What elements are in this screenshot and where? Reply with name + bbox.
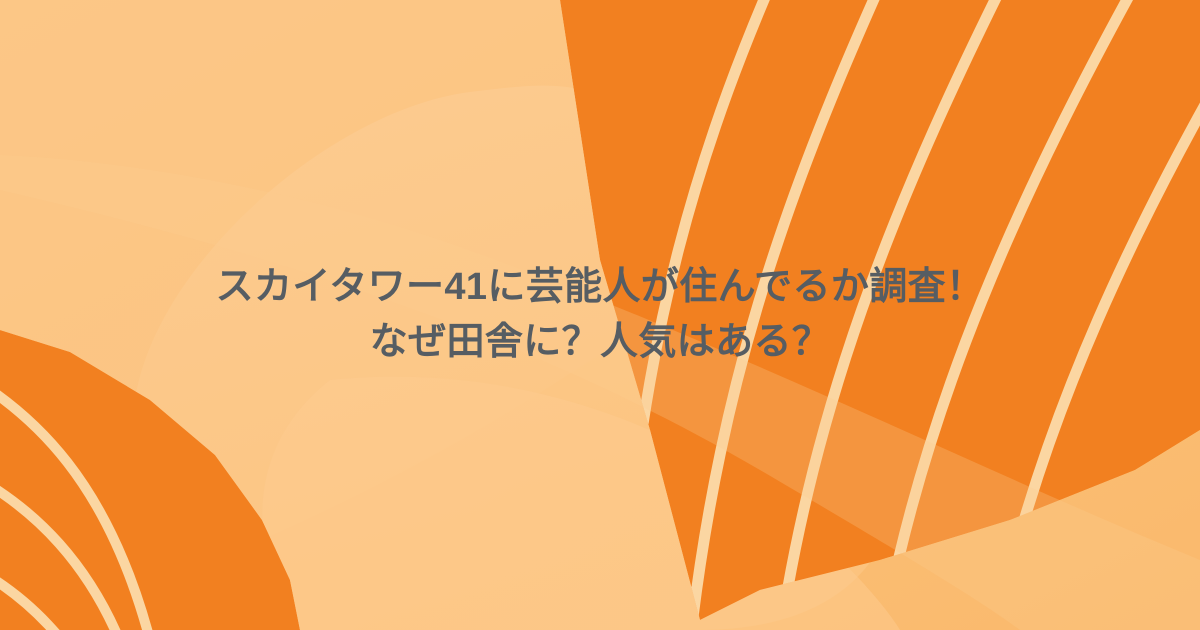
title-line-2: なぜ田舎に？人気はある？ (100, 315, 1100, 370)
og-image-card: スカイタワー41に芸能人が住んでるか調査！ なぜ田舎に？人気はある？ (0, 0, 1200, 630)
title-line-1: スカイタワー41に芸能人が住んでるか調査！ (100, 260, 1100, 315)
title-container: スカイタワー41に芸能人が住んでるか調査！ なぜ田舎に？人気はある？ (0, 0, 1200, 630)
page-title: スカイタワー41に芸能人が住んでるか調査！ なぜ田舎に？人気はある？ (100, 260, 1100, 370)
